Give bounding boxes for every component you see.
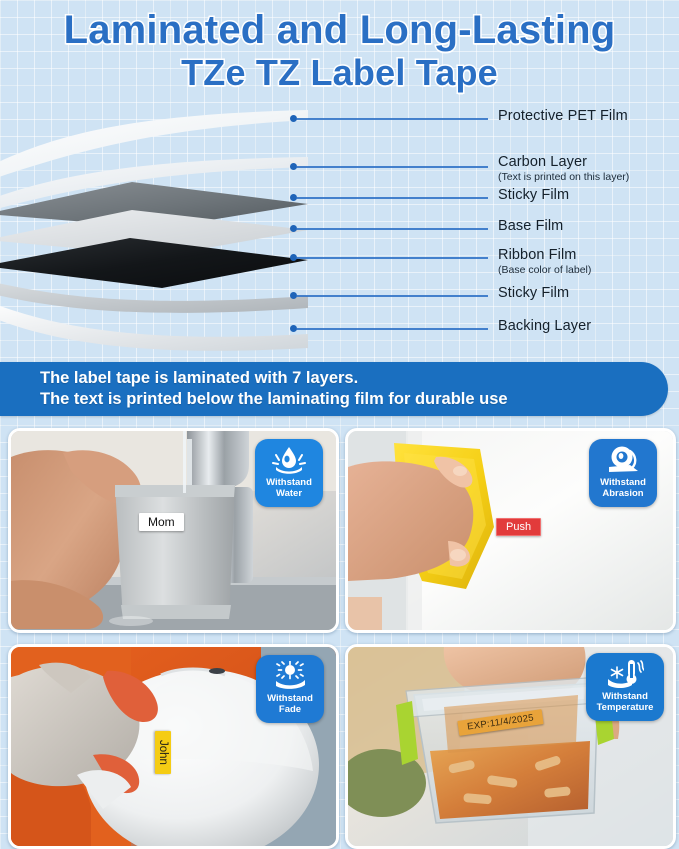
page-title: Laminated and Long-Lasting TZe TZ Label …	[0, 8, 679, 94]
layer-label-6: Sticky Film	[498, 285, 569, 301]
title-line-1: Laminated and Long-Lasting	[0, 8, 679, 52]
leader-line-7	[296, 328, 488, 330]
tape-roll-icon	[606, 443, 640, 476]
layer-label-4-text: Base Film	[498, 218, 563, 234]
layer-label-4: Base Film	[498, 218, 563, 234]
label-chip-mom: Mom	[139, 513, 184, 531]
banner-line-1: The label tape is laminated with 7 layer…	[40, 369, 358, 388]
badge-temperature-label: WithstandTemperature	[597, 691, 654, 713]
layer-label-2-text: Carbon Layer	[498, 154, 587, 170]
layer-label-3-text: Sticky Film	[498, 187, 569, 203]
badge-withstand-abrasion: WithstandAbrasion	[589, 439, 657, 507]
banner-line-2: The text is printed below the laminating…	[40, 390, 508, 409]
leader-line-2	[296, 166, 488, 168]
title-line-2: TZe TZ Label Tape	[0, 52, 679, 94]
badge-fade-label: WithstandFade	[267, 693, 313, 715]
feature-panel-water: Mom WithstandWater	[8, 428, 339, 633]
layer-label-5-sub: (Base color of label)	[498, 264, 591, 276]
label-chip-john: John	[155, 731, 171, 774]
badge-abrasion-label: WithstandAbrasion	[600, 477, 646, 499]
layer-label-2-sub: (Text is printed on this layer)	[498, 171, 629, 183]
leader-line-1	[296, 118, 488, 120]
layer-label-2: Carbon Layer (Text is printed on this la…	[498, 154, 629, 183]
thermometer-snowflake-icon	[606, 657, 644, 690]
layer-sheet-backing	[0, 290, 310, 356]
feature-panel-fade: John WithstandFade	[8, 644, 339, 849]
label-chip-push: Push	[496, 518, 541, 536]
summary-banner: The label tape is laminated with 7 layer…	[0, 362, 668, 416]
layer-label-7: Backing Layer	[498, 318, 591, 334]
leader-line-6	[296, 295, 488, 297]
badge-withstand-water: WithstandWater	[255, 439, 323, 507]
feature-photo-grid: Mom WithstandWater	[8, 428, 671, 842]
feature-panel-temperature: EXP:11/4/2025 W	[345, 644, 676, 849]
layer-label-6-text: Sticky Film	[498, 285, 569, 301]
layer-label-1-text: Protective PET Film	[498, 108, 628, 124]
layer-label-5: Ribbon Film (Base color of label)	[498, 247, 591, 276]
leader-line-4	[296, 228, 488, 230]
badge-withstand-fade: WithstandFade	[256, 655, 324, 723]
leader-line-3	[296, 197, 488, 199]
layer-label-5-text: Ribbon Film	[498, 247, 576, 263]
infographic-page: Laminated and Long-Lasting TZe TZ Label …	[0, 0, 679, 849]
sun-icon	[273, 659, 307, 692]
layer-label-3: Sticky Film	[498, 187, 569, 203]
layer-label-7-text: Backing Layer	[498, 318, 591, 334]
layer-diagram: Protective PET Film Carbon Layer (Text i…	[0, 104, 679, 360]
badge-withstand-temperature: WithstandTemperature	[586, 653, 664, 721]
layer-label-1: Protective PET Film	[498, 108, 628, 124]
badge-water-label: WithstandWater	[266, 477, 312, 499]
feature-panel-abrasion: Push WithstandAbrasion	[345, 428, 676, 633]
leader-line-5	[296, 257, 488, 259]
water-drop-icon	[272, 443, 306, 476]
